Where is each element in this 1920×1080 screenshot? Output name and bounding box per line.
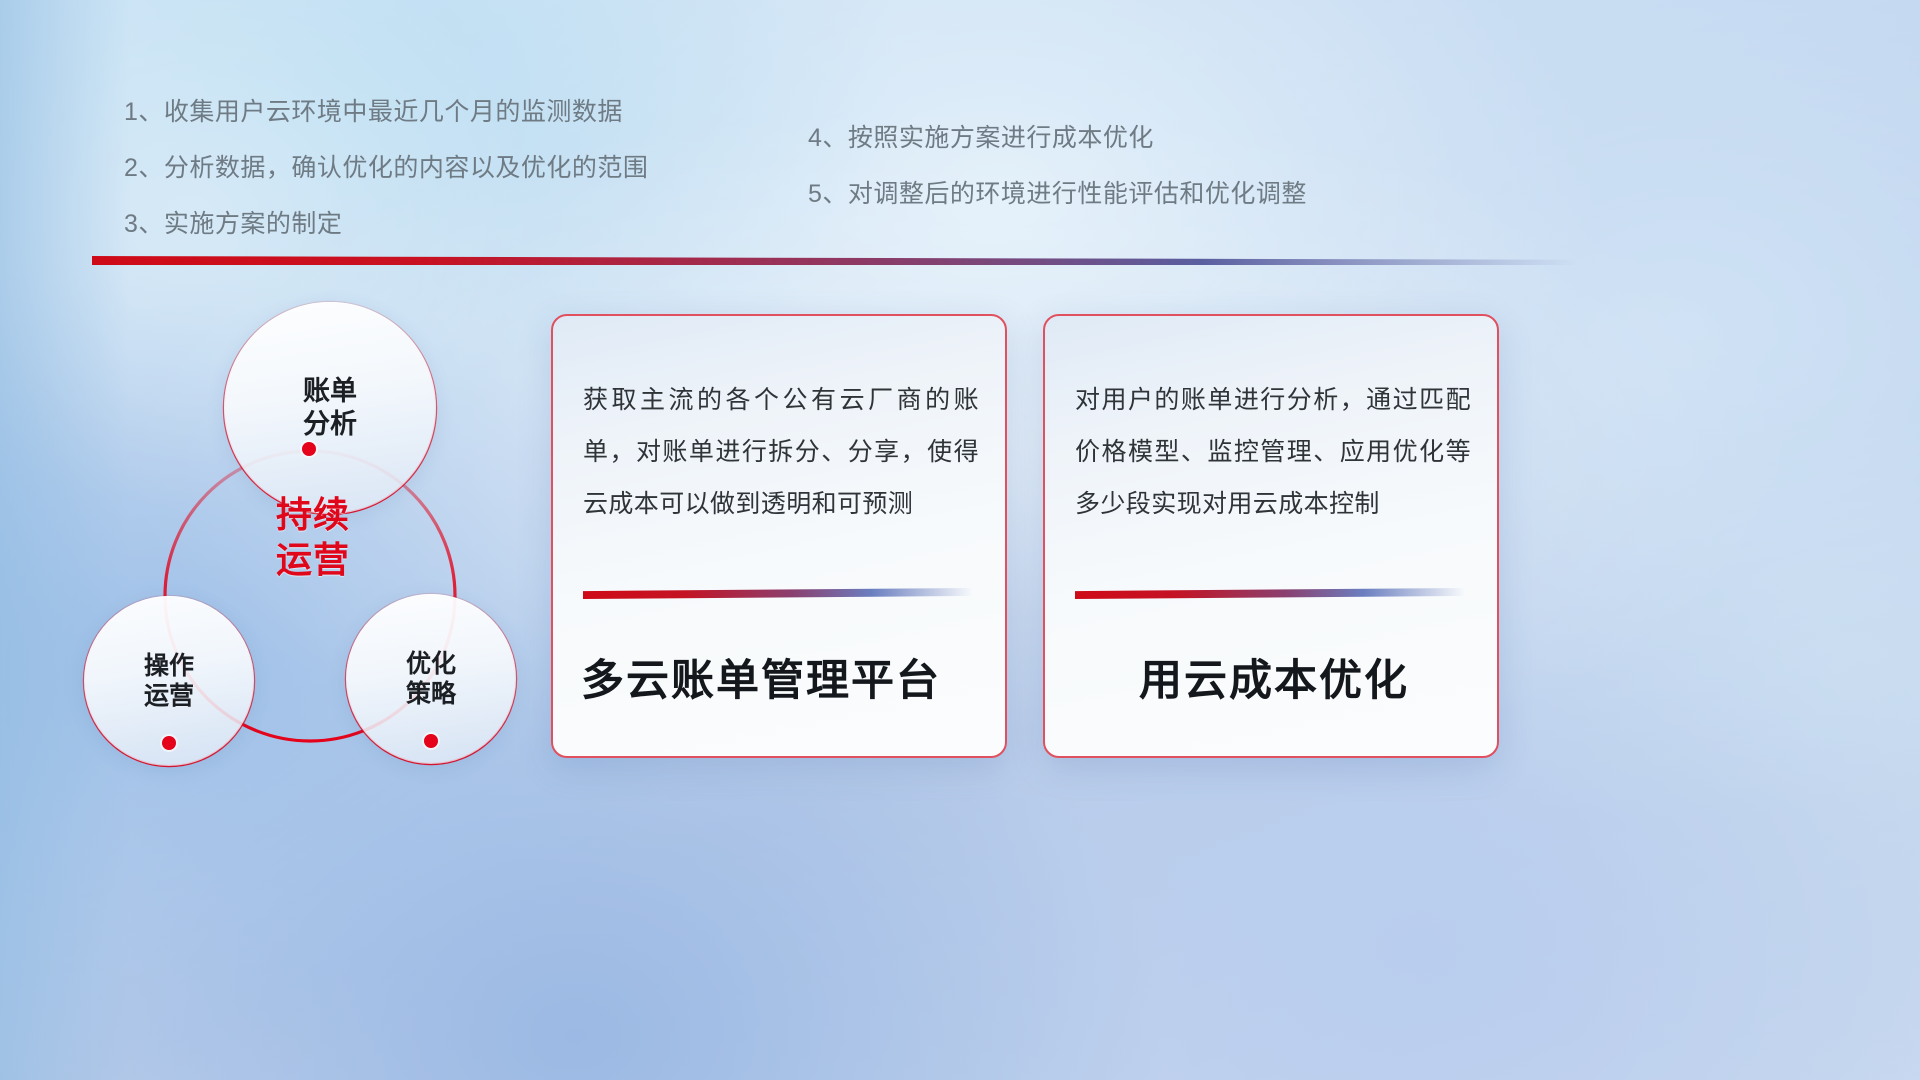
steps-right-column: 4、按照实施方案进行成本优化 5、对调整后的环境进行性能评估和优化调整: [808, 126, 1307, 238]
slide-canvas: 1、收集用户云环境中最近几个月的监测数据 2、分析数据，确认优化的内容以及优化的…: [0, 0, 1920, 1080]
step-item: 3、实施方案的制定: [124, 212, 648, 237]
venn-node-dot-bottom-right: [424, 734, 438, 748]
venn-node-dot-top: [302, 442, 316, 456]
card-divider: [1075, 588, 1465, 599]
step-item: 2、分析数据，确认优化的内容以及优化的范围: [124, 156, 648, 181]
venn-bubble-label: 优化策略: [406, 649, 456, 710]
venn-node-dot-bottom-left: [162, 736, 176, 750]
feature-card-cloud-cost-optimization[interactable]: 对用户的账单进行分析，通过匹配价格模型、监控管理、应用优化等多少段实现对用云成本…: [1043, 314, 1499, 758]
card-title: 多云账单管理平台: [581, 646, 983, 708]
step-item: 1、收集用户云环境中最近几个月的监测数据: [124, 100, 648, 125]
card-body-text: 获取主流的各个公有云厂商的账单，对账单进行拆分、分享，使得云成本可以做到透明和可…: [583, 374, 979, 530]
card-title: 用云成本优化: [1073, 646, 1475, 708]
venn-bubble-bill-analysis[interactable]: 账单分析: [224, 302, 436, 514]
venn-center-label: 持续运营: [78, 492, 548, 582]
venn-bubble-label: 账单分析: [303, 375, 357, 441]
venn-bubble-label: 操作运营: [144, 651, 194, 712]
card-divider: [583, 588, 973, 599]
venn-diagram: 账单分析 操作运营 优化策略 持续运营: [78, 296, 548, 776]
section-divider: [92, 256, 1592, 265]
step-item: 5、对调整后的环境进行性能评估和优化调整: [808, 182, 1307, 207]
step-item: 4、按照实施方案进行成本优化: [808, 126, 1307, 151]
steps-left-column: 1、收集用户云环境中最近几个月的监测数据 2、分析数据，确认优化的内容以及优化的…: [124, 100, 648, 268]
card-body-text: 对用户的账单进行分析，通过匹配价格模型、监控管理、应用优化等多少段实现对用云成本…: [1075, 374, 1471, 530]
feature-card-multicloud-bill-platform[interactable]: 获取主流的各个公有云厂商的账单，对账单进行拆分、分享，使得云成本可以做到透明和可…: [551, 314, 1007, 758]
